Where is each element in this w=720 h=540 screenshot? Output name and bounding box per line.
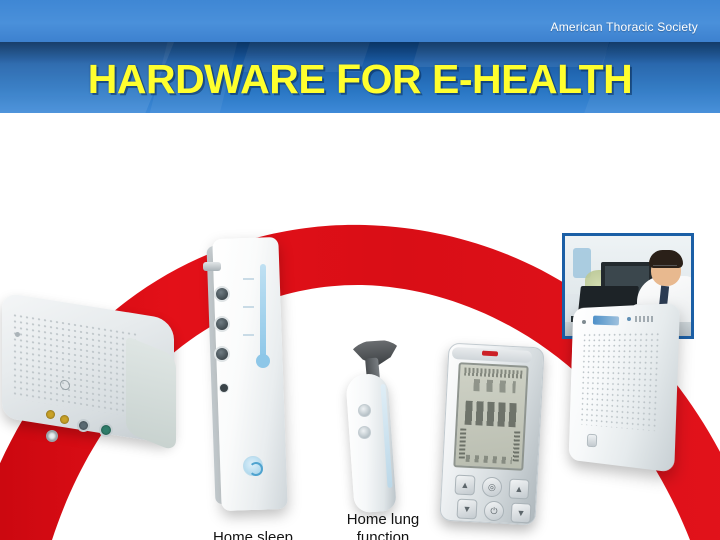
brand-logo-icon	[593, 316, 619, 326]
lcd-icon-row	[473, 379, 516, 393]
glasses-icon	[653, 265, 677, 270]
lcd-right-bars	[513, 431, 521, 461]
port-white	[46, 430, 58, 442]
scale-tick	[243, 306, 254, 308]
lcd-screen	[453, 362, 528, 471]
key-down-right: ▼	[510, 502, 531, 523]
page-title: HARDWARE FOR E-HEALTH	[0, 57, 720, 101]
thermometer-bulb	[256, 354, 270, 368]
brand-mark	[482, 351, 498, 357]
key-up-left: ▲	[454, 474, 475, 495]
device-button-1	[358, 404, 371, 417]
device-home-vital-signs	[2, 306, 174, 453]
port-small	[219, 383, 229, 393]
port-yellow	[46, 410, 55, 419]
thermometer-tube	[260, 264, 266, 360]
device-home-sleep-apnea	[207, 238, 291, 513]
port-gray	[77, 419, 90, 432]
power-button	[587, 434, 597, 447]
key-up-right: ▲	[508, 478, 529, 499]
thermometer-graphic	[255, 264, 271, 380]
lcd-main-readout	[465, 401, 518, 428]
vent-grill	[579, 331, 662, 431]
port-round-3	[214, 346, 230, 362]
device-family-rehabilitation	[565, 306, 695, 476]
lcd-status-row	[464, 368, 522, 379]
key-down-left: ▼	[456, 498, 477, 519]
scale-tick	[243, 278, 254, 280]
connector-jack	[203, 262, 221, 271]
label-line: function	[330, 529, 436, 540]
device-home-lung-function	[334, 340, 408, 515]
port-green	[99, 423, 113, 437]
port-round-1	[214, 286, 230, 302]
device-home-insomnia: ▲ ◎ ▲ ▼ ⏻ ▼	[444, 345, 544, 525]
status-led	[15, 332, 20, 337]
status-led-1	[582, 320, 586, 324]
status-led-2	[627, 317, 631, 321]
scale-tick	[243, 334, 254, 336]
slide-root: American Thoracic Society HARDWARE FOR E…	[0, 0, 720, 540]
model-text	[635, 316, 653, 322]
slide-header: American Thoracic Society HARDWARE FOR E…	[0, 0, 720, 113]
lcd-footer-row	[466, 455, 512, 464]
slide-body: ▲ ◎ ▲ ▼ ⏻ ▼ Home sleep apnea therapy Ter…	[0, 113, 720, 540]
label-home-lung-function: Home lung function monitoring Terminal	[330, 511, 436, 540]
port-yellow-2	[60, 415, 69, 424]
label-line: Home sleep	[192, 529, 314, 540]
label-home-sleep-apnea: Home sleep apnea therapy Terminal	[192, 529, 314, 540]
device-front-panel	[126, 336, 176, 452]
organization-name: American Thoracic Society	[551, 20, 699, 34]
label-line: Home lung	[330, 511, 436, 529]
port-round-2	[214, 316, 230, 332]
brand-logo-icon	[243, 456, 263, 476]
device-button-2	[358, 426, 371, 439]
